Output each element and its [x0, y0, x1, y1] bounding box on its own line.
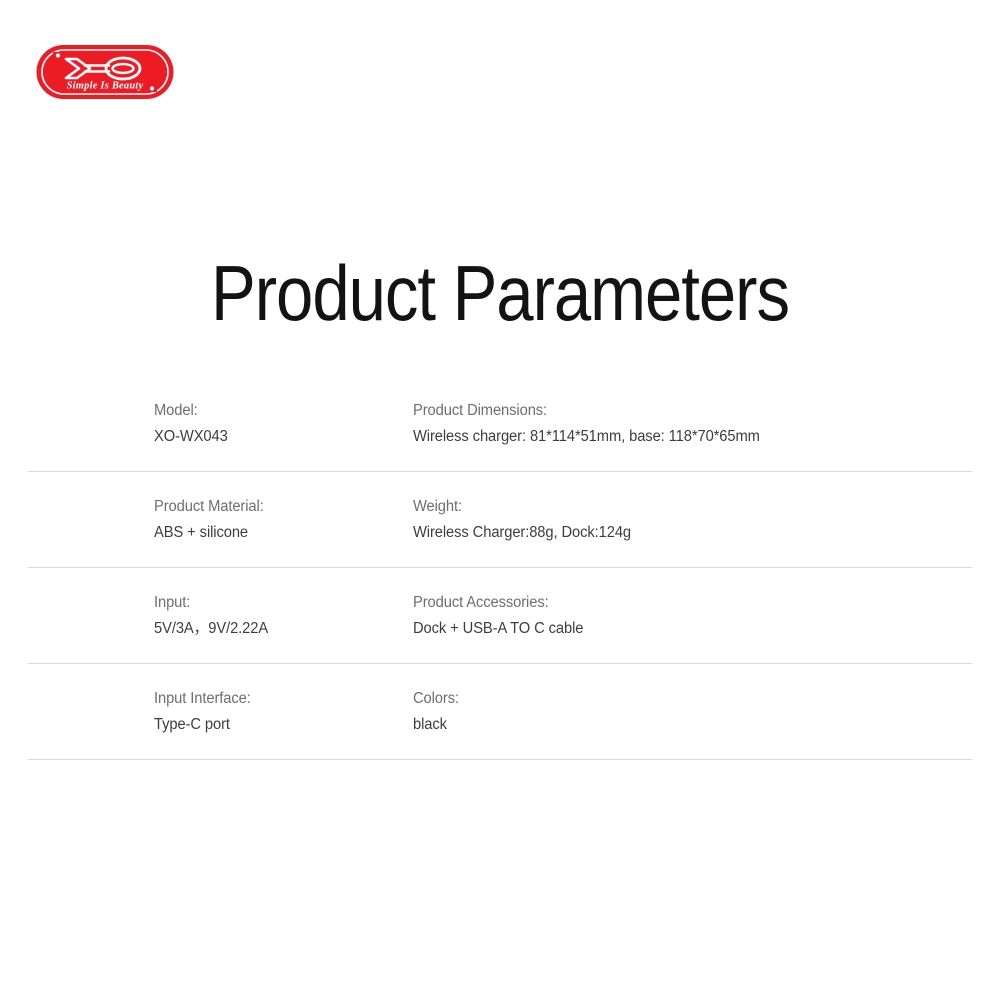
- spec-label: Input:: [154, 590, 400, 615]
- xo-logo-icon: Simple Is Beauty: [35, 43, 175, 101]
- spec-label: Product Accessories:: [413, 590, 944, 615]
- spec-value: Dock + USB-A TO C cable: [413, 616, 944, 641]
- logo-tagline: Simple Is Beauty: [67, 81, 144, 92]
- spec-label: Product Material:: [154, 494, 400, 519]
- spec-label: Model:: [154, 398, 400, 423]
- table-row: Input: 5V/3A，9V/2.22A Product Accessorie…: [28, 568, 972, 664]
- table-row: Product Material: ABS + silicone Weight:…: [28, 472, 972, 568]
- spec-cell-right: Product Dimensions: Wireless charger: 81…: [413, 398, 972, 449]
- spec-cell-right: Weight: Wireless Charger:88g, Dock:124g: [413, 494, 972, 545]
- spec-value: XO-WX043: [154, 424, 400, 449]
- spec-value: Type-C port: [154, 712, 400, 737]
- spec-value: ABS + silicone: [154, 520, 400, 545]
- spec-value: 5V/3A，9V/2.22A: [154, 616, 400, 641]
- spec-cell-left: Input: 5V/3A，9V/2.22A: [28, 590, 413, 641]
- spec-value: black: [413, 712, 944, 737]
- spec-cell-left: Model: XO-WX043: [28, 398, 413, 449]
- xo-logo: Simple Is Beauty: [35, 43, 175, 101]
- page-title: Product Parameters: [70, 250, 930, 336]
- product-parameters-table: Model: XO-WX043 Product Dimensions: Wire…: [28, 396, 972, 760]
- spec-cell-right: Product Accessories: Dock + USB-A TO C c…: [413, 590, 972, 641]
- table-row: Model: XO-WX043 Product Dimensions: Wire…: [28, 396, 972, 472]
- spec-label: Product Dimensions:: [413, 398, 944, 423]
- spec-cell-right: Colors: black: [413, 686, 972, 737]
- spec-cell-left: Product Material: ABS + silicone: [28, 494, 413, 545]
- spec-label: Input Interface:: [154, 686, 400, 711]
- table-row: Input Interface: Type-C port Colors: bla…: [28, 664, 972, 760]
- spec-value: Wireless Charger:88g, Dock:124g: [413, 520, 944, 545]
- spec-label: Weight:: [413, 494, 944, 519]
- spec-value: Wireless charger: 81*114*51mm, base: 118…: [413, 424, 944, 449]
- spec-cell-left: Input Interface: Type-C port: [28, 686, 413, 737]
- spec-label: Colors:: [413, 686, 944, 711]
